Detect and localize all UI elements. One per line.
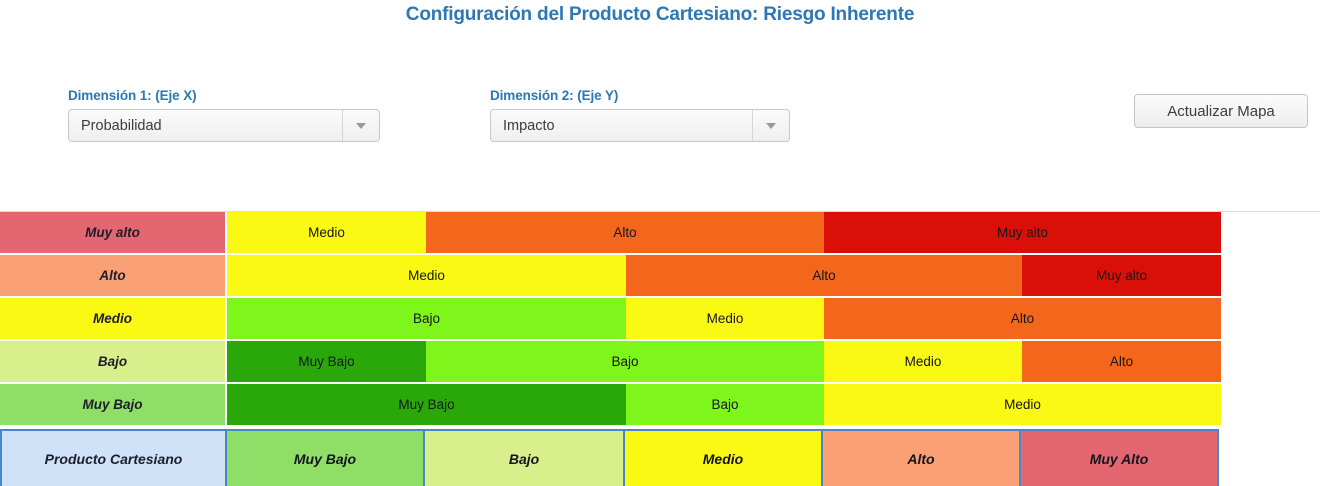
matrix-row-cells: BajoMedioAlto xyxy=(225,298,1219,341)
matrix-cell-label: Muy Bajo xyxy=(298,354,354,369)
page-title: Configuración del Producto Cartesiano: R… xyxy=(0,4,1320,26)
matrix-cell-label: Medio xyxy=(905,354,942,369)
matrix-cell-label: Alto xyxy=(907,451,934,467)
matrix-cell[interactable]: Bajo xyxy=(626,384,824,425)
matrix-cell-label: Muy Alto xyxy=(1090,451,1149,467)
matrix-cell[interactable]: Muy alto xyxy=(824,212,1221,253)
matrix-cell-label: Bajo xyxy=(711,397,738,412)
controls-bar: Dimensión 1: (Eje X) Probabilidad Dimens… xyxy=(0,88,1320,158)
matrix-row: MedioBajoMedioAlto xyxy=(0,298,1219,341)
matrix-row: Muy BajoMuy BajoBajoMedio xyxy=(0,384,1219,427)
matrix-row-cells: Muy BajoBajoMedio xyxy=(225,384,1219,427)
matrix-cell[interactable]: Medio xyxy=(227,255,626,296)
risk-matrix: Muy altoMedioAltoMuy altoAltoMedioAltoMu… xyxy=(0,212,1219,486)
matrix-cell[interactable]: Bajo xyxy=(227,298,626,339)
matrix-cell-label: Medio xyxy=(707,311,744,326)
matrix-row-cells: MedioAltoMuy alto xyxy=(225,212,1219,255)
matrix-cell[interactable]: Alto xyxy=(1022,341,1221,382)
matrix-cell-label: Bajo xyxy=(413,311,440,326)
dimension-y-label: Dimensión 2: (Eje Y) xyxy=(490,88,790,103)
matrix-cell[interactable]: Muy Alto xyxy=(1020,429,1219,486)
matrix-cell-label: Alto xyxy=(1110,354,1133,369)
matrix-row-cells: Muy BajoBajoMedioAlto xyxy=(225,341,1219,384)
matrix-cell[interactable]: Medio xyxy=(624,429,822,486)
cartesian-row-header: Producto Cartesiano xyxy=(0,429,225,486)
matrix-cell[interactable]: Alto xyxy=(426,212,824,253)
matrix-cell-label: Alto xyxy=(812,268,835,283)
matrix-row-header: Muy alto xyxy=(0,212,225,255)
matrix-cell-label: Alto xyxy=(613,225,636,240)
matrix-cell[interactable]: Alto xyxy=(822,429,1020,486)
matrix-row-cells: MedioAltoMuy alto xyxy=(225,255,1219,298)
dimension-y-value: Impacto xyxy=(491,118,752,134)
matrix-cell[interactable]: Medio xyxy=(824,341,1022,382)
matrix-row: AltoMedioAltoMuy alto xyxy=(0,255,1219,298)
cartesian-product-row: Producto CartesianoMuy BajoBajoMedioAlto… xyxy=(0,429,1219,486)
matrix-row: Muy altoMedioAltoMuy alto xyxy=(0,212,1219,255)
dimension-x-field: Dimensión 1: (Eje X) Probabilidad xyxy=(68,88,380,142)
matrix-cell[interactable]: Muy Bajo xyxy=(227,384,626,425)
matrix-row-header: Muy Bajo xyxy=(0,384,225,427)
matrix-cell[interactable]: Alto xyxy=(824,298,1221,339)
matrix-cell-label: Muy alto xyxy=(997,225,1048,240)
matrix-cell[interactable]: Muy alto xyxy=(1022,255,1221,296)
matrix-cell-label: Muy Bajo xyxy=(398,397,454,412)
matrix-cell[interactable]: Medio xyxy=(227,212,426,253)
matrix-cell-label: Medio xyxy=(703,451,743,467)
update-map-button[interactable]: Actualizar Mapa xyxy=(1134,94,1308,128)
matrix-cell-label: Muy alto xyxy=(1096,268,1147,283)
matrix-cell-label: Medio xyxy=(1004,397,1041,412)
matrix-cell[interactable]: Alto xyxy=(626,255,1022,296)
matrix-cell[interactable]: Muy Bajo xyxy=(225,429,424,486)
risk-matrix-configurator: Configuración del Producto Cartesiano: R… xyxy=(0,0,1320,486)
matrix-cell[interactable]: Bajo xyxy=(426,341,824,382)
matrix-cell[interactable]: Bajo xyxy=(424,429,624,486)
dimension-y-field: Dimensión 2: (Eje Y) Impacto xyxy=(490,88,790,142)
matrix-cell-label: Medio xyxy=(308,225,345,240)
matrix-row-header: Medio xyxy=(0,298,225,341)
dimension-x-value: Probabilidad xyxy=(69,118,342,134)
matrix-cell-label: Bajo xyxy=(611,354,638,369)
matrix-cell-label: Medio xyxy=(408,268,445,283)
matrix-row-header: Alto xyxy=(0,255,225,298)
matrix-cell[interactable]: Medio xyxy=(626,298,824,339)
matrix-cell-label: Alto xyxy=(1011,311,1034,326)
matrix-cell[interactable]: Medio xyxy=(824,384,1221,425)
dimension-x-select[interactable]: Probabilidad xyxy=(68,109,380,142)
chevron-down-icon[interactable] xyxy=(752,110,789,141)
matrix-row-cells: Muy BajoBajoMedioAltoMuy Alto xyxy=(225,429,1219,486)
matrix-cell-label: Muy Bajo xyxy=(294,451,356,467)
dimension-x-label: Dimensión 1: (Eje X) xyxy=(68,88,380,103)
dimension-y-select[interactable]: Impacto xyxy=(490,109,790,142)
matrix-cell[interactable]: Muy Bajo xyxy=(227,341,426,382)
matrix-cell-label: Bajo xyxy=(509,451,539,467)
matrix-row: BajoMuy BajoBajoMedioAlto xyxy=(0,341,1219,384)
matrix-row-header: Bajo xyxy=(0,341,225,384)
chevron-down-icon[interactable] xyxy=(342,110,379,141)
